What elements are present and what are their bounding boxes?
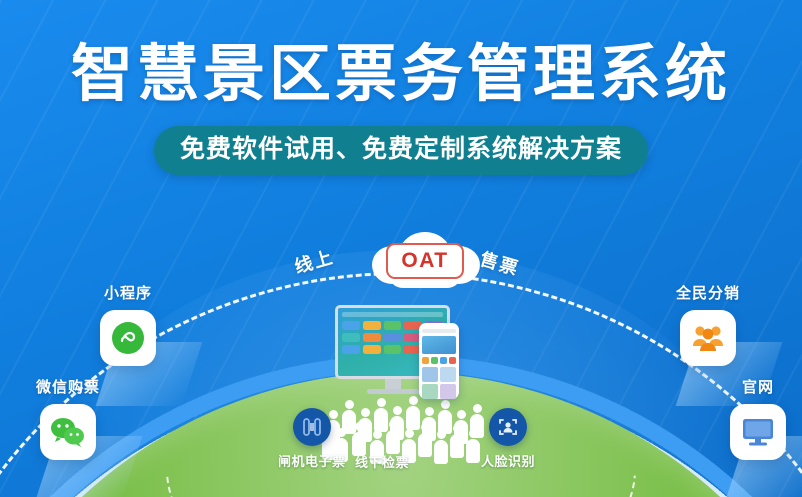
- channel-website[interactable]: 官网: [730, 376, 786, 460]
- subtitle-text: 免费软件试用、免费定制系统解决方案: [180, 135, 622, 163]
- phone-status-bar: [422, 329, 456, 333]
- person-silhouette: [450, 424, 464, 458]
- node-label: 人脸识别: [481, 451, 535, 470]
- face-recognition-icon: [496, 415, 520, 439]
- wechat-tile[interactable]: [40, 404, 96, 460]
- mobile-app-icon: [431, 357, 438, 364]
- desktop-app-icon: [363, 321, 381, 330]
- channel-label: 小程序: [104, 282, 152, 303]
- people-group-icon: [690, 322, 726, 354]
- desktop-app-icon: [342, 333, 360, 342]
- channel-mini-program[interactable]: 小程序: [100, 282, 156, 366]
- mini-program-tile[interactable]: [100, 310, 156, 366]
- mini-program-icon: [111, 321, 145, 355]
- face-recognition-circle[interactable]: [489, 408, 527, 446]
- desktop-app-icon: [363, 333, 381, 342]
- desktop-app-icon: [363, 345, 381, 354]
- person-silhouette: [352, 422, 366, 456]
- phone-card-grid: [422, 367, 456, 399]
- phone-hero-image: [422, 336, 456, 354]
- website-tile[interactable]: [730, 404, 786, 460]
- channel-label: 官网: [742, 376, 774, 397]
- imac-menu-bar: [342, 312, 443, 317]
- node-label: 闸机电子票: [278, 451, 346, 470]
- crowd-silhouettes: [322, 396, 487, 460]
- desktop-app-icon: [384, 321, 402, 330]
- channel-label: 全民分销: [676, 282, 740, 303]
- person-silhouette: [418, 423, 432, 457]
- person-silhouette: [434, 430, 448, 464]
- turnstile-icon: [300, 415, 324, 439]
- oat-logo-text: OAT: [401, 249, 448, 273]
- turnstile-circle[interactable]: [293, 408, 331, 446]
- desktop-app-icon: [342, 321, 360, 330]
- channel-label: 微信购票: [36, 376, 100, 397]
- channel-wechat[interactable]: 微信购票: [36, 376, 100, 460]
- person-silhouette: [466, 429, 480, 463]
- banner-header: 智慧景区票务管理系统 免费软件试用、免费定制系统解决方案: [0, 0, 802, 210]
- person-silhouette: [386, 420, 400, 454]
- phone-icon-row: [422, 357, 456, 364]
- imac-stand-base: [367, 389, 419, 394]
- page-title: 智慧景区票务管理系统: [71, 44, 731, 106]
- device-cluster: [335, 305, 450, 394]
- desktop-app-icon: [384, 333, 402, 342]
- offline-check-label: 线下检票: [355, 452, 409, 471]
- promo-banner: 智慧景区票务管理系统 免费软件试用、免费定制系统解决方案 OAT 线上 售票: [0, 0, 802, 497]
- node-turnstile[interactable]: 闸机电子票: [278, 408, 346, 470]
- imac-stand-neck: [385, 379, 401, 389]
- wechat-icon: [50, 416, 86, 448]
- mobile-app-icon: [422, 357, 429, 364]
- oat-logo: OAT: [386, 243, 464, 279]
- node-face-recognition[interactable]: 人脸识别: [481, 408, 535, 470]
- desktop-app-icon: [342, 345, 360, 354]
- smartphone-device: [419, 323, 459, 399]
- desktop-app-icon: [384, 345, 402, 354]
- monitor-icon: [740, 416, 776, 448]
- subtitle-pill: 免费软件试用、免费定制系统解决方案: [154, 126, 648, 175]
- mobile-app-icon: [440, 357, 447, 364]
- distribution-tile[interactable]: [680, 310, 736, 366]
- channel-distribution[interactable]: 全民分销: [676, 282, 740, 366]
- mobile-app-icon: [449, 357, 456, 364]
